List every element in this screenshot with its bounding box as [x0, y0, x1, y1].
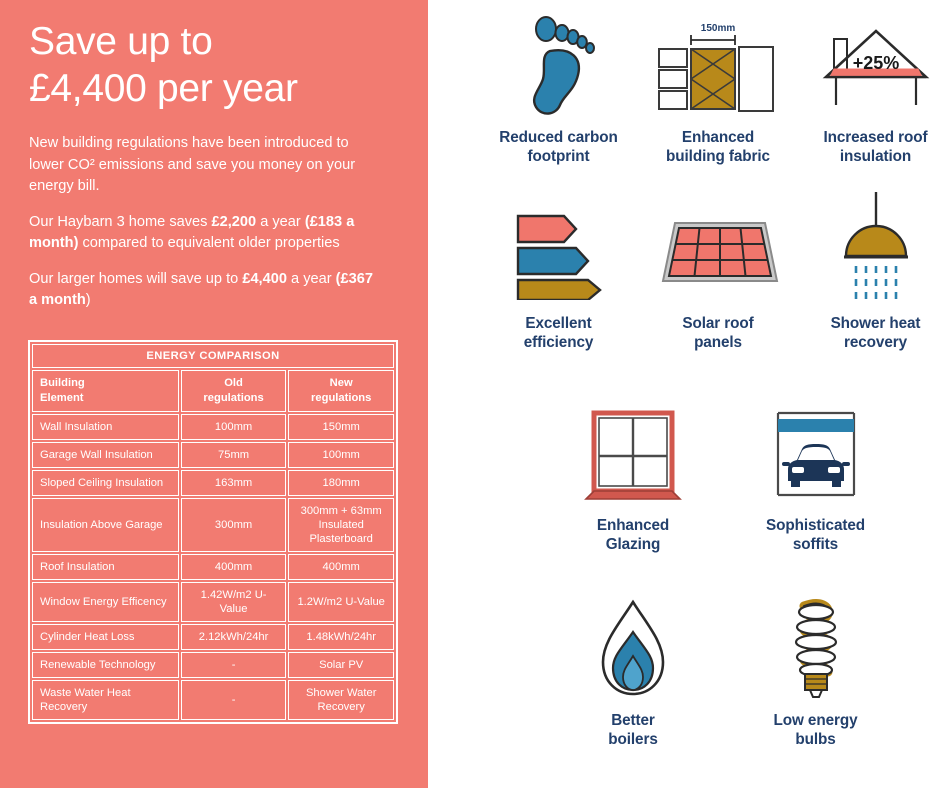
p3-mid: a year [287, 271, 336, 287]
cell-building-element: Sloped Ceiling Insulation [32, 470, 179, 496]
p3-post: ) [86, 292, 91, 308]
headline-line-2: £4,400 per year [29, 65, 414, 112]
p3-bold-annual: £4,400 [242, 271, 287, 287]
cell-old-regulation: - [181, 680, 287, 720]
feature-label-line1: Low energy [718, 711, 913, 730]
feature-label-line1: Sophisticated [718, 516, 913, 535]
cell-new-regulation: 180mm [288, 470, 394, 496]
feature-label: Shower heat recovery [783, 314, 940, 352]
feature-label-line1: Enhanced [538, 516, 728, 535]
cell-new-regulation: 100mm [288, 442, 394, 468]
column-header-element: Building Element [32, 370, 179, 412]
cell-old-regulation: 75mm [181, 442, 287, 468]
column-header-element-line1: Building [40, 376, 171, 391]
carport-soffit-icon [718, 400, 913, 510]
feature-label-line1: Shower heat [783, 314, 940, 333]
cell-building-element: Garage Wall Insulation [32, 442, 179, 468]
intro-text-block: New building regulations have been intro… [29, 133, 381, 326]
intro-paragraph-3: Our larger homes will save up to £4,400 … [29, 269, 381, 312]
intro-paragraph-2: Our Haybarn 3 home saves £2,200 a year (… [29, 212, 381, 255]
fabric-dimension-text: 150mm [701, 23, 736, 34]
feature-label: Increased roof insulation [783, 128, 940, 166]
feature-better-boilers: Better boilers [538, 595, 728, 749]
column-header-element-line2: Element [40, 391, 171, 406]
feature-increased-roof-insulation: +25% Increased roof insulation [783, 12, 940, 166]
table-row: Wall Insulation100mm150mm [32, 414, 394, 440]
page-title: Save up to £4,400 per year [29, 18, 414, 112]
p2-bold-annual: £2,200 [212, 214, 257, 230]
gas-flame-icon [538, 595, 728, 705]
feature-shower-heat-recovery: Shower heat recovery [783, 190, 940, 352]
cell-old-regulation: 163mm [181, 470, 287, 496]
cell-old-regulation: 400mm [181, 554, 287, 580]
cell-building-element: Renewable Technology [32, 652, 179, 678]
cell-new-regulation: 150mm [288, 414, 394, 440]
table-row: Cylinder Heat Loss2.12kWh/24hr1.48kWh/24… [32, 624, 394, 650]
p2-post: compared to equivalent older properties [78, 235, 339, 251]
feature-sophisticated-soffits: Sophisticated soffits [718, 400, 913, 554]
feature-label-line1: Increased roof [783, 128, 940, 147]
headline-line-1: Save up to [29, 18, 414, 65]
feature-label-line2: soffits [718, 535, 913, 554]
cell-old-regulation: 2.12kWh/24hr [181, 624, 287, 650]
table-row: Roof Insulation400mm400mm [32, 554, 394, 580]
table-row: Insulation Above Garage300mm300mm + 63mm… [32, 498, 394, 552]
cell-new-regulation: Shower Water Recovery [288, 680, 394, 720]
roof-percent-text: +25% [852, 53, 899, 73]
table-row: Renewable Technology-Solar PV [32, 652, 394, 678]
cell-new-regulation: 400mm [288, 554, 394, 580]
left-summary-panel: Save up to £4,400 per year New building … [0, 0, 428, 788]
cell-new-regulation: 1.48kWh/24hr [288, 624, 394, 650]
column-header-old-line1: Old [189, 376, 279, 391]
p3-pre: Our larger homes will save up to [29, 271, 242, 287]
p2-mid: a year [256, 214, 305, 230]
cell-building-element: Wall Insulation [32, 414, 179, 440]
cell-old-regulation: 300mm [181, 498, 287, 552]
table-row: Garage Wall Insulation75mm100mm [32, 442, 394, 468]
cell-building-element: Window Energy Efficency [32, 582, 179, 622]
roof-insulation-icon: +25% [783, 12, 940, 122]
feature-enhanced-glazing: Enhanced Glazing [538, 400, 728, 554]
energy-comparison-table: ENERGY COMPARISON Building Element Old r… [28, 340, 398, 724]
feature-label: Sophisticated soffits [718, 516, 913, 554]
table-row: Window Energy Efficency1.42W/m2 U-Value1… [32, 582, 394, 622]
shower-head-icon [783, 190, 940, 308]
cell-building-element: Waste Water Heat Recovery [32, 680, 179, 720]
column-header-old: Old regulations [181, 370, 287, 412]
table-row: Waste Water Heat Recovery-Shower Water R… [32, 680, 394, 720]
cell-building-element: Insulation Above Garage [32, 498, 179, 552]
cell-new-regulation: 1.2W/m2 U-Value [288, 582, 394, 622]
feature-label-line2: Glazing [538, 535, 728, 554]
feature-low-energy-bulbs: Low energy bulbs [718, 595, 913, 749]
cell-building-element: Cylinder Heat Loss [32, 624, 179, 650]
table-title: ENERGY COMPARISON [32, 344, 394, 368]
feature-label-line1: Better [538, 711, 728, 730]
table-title-row: ENERGY COMPARISON [32, 344, 394, 368]
p2-pre: Our Haybarn 3 home saves [29, 214, 212, 230]
column-header-old-line2: regulations [189, 391, 279, 406]
feature-label: Low energy bulbs [718, 711, 913, 749]
table-header-row: Building Element Old regulations New reg… [32, 370, 394, 412]
cell-old-regulation: 1.42W/m2 U-Value [181, 582, 287, 622]
column-header-new-line2: regulations [296, 391, 386, 406]
feature-label-line2: insulation [783, 147, 940, 166]
cell-new-regulation: Solar PV [288, 652, 394, 678]
column-header-new: New regulations [288, 370, 394, 412]
features-panel: Reduced carbon footprint 150mm [428, 0, 940, 788]
feature-label-line2: bulbs [718, 730, 913, 749]
cell-building-element: Roof Insulation [32, 554, 179, 580]
cell-old-regulation: 100mm [181, 414, 287, 440]
feature-label-line2: boilers [538, 730, 728, 749]
cfl-bulb-icon [718, 595, 913, 705]
cell-old-regulation: - [181, 652, 287, 678]
cell-new-regulation: 300mm + 63mm Insulated Plasterboard [288, 498, 394, 552]
column-header-new-line1: New [296, 376, 386, 391]
window-glazing-icon [538, 400, 728, 510]
table-row: Sloped Ceiling Insulation163mm180mm [32, 470, 394, 496]
feature-label-line2: recovery [783, 333, 940, 352]
feature-label: Better boilers [538, 711, 728, 749]
feature-label: Enhanced Glazing [538, 516, 728, 554]
intro-paragraph-1: New building regulations have been intro… [29, 133, 381, 198]
